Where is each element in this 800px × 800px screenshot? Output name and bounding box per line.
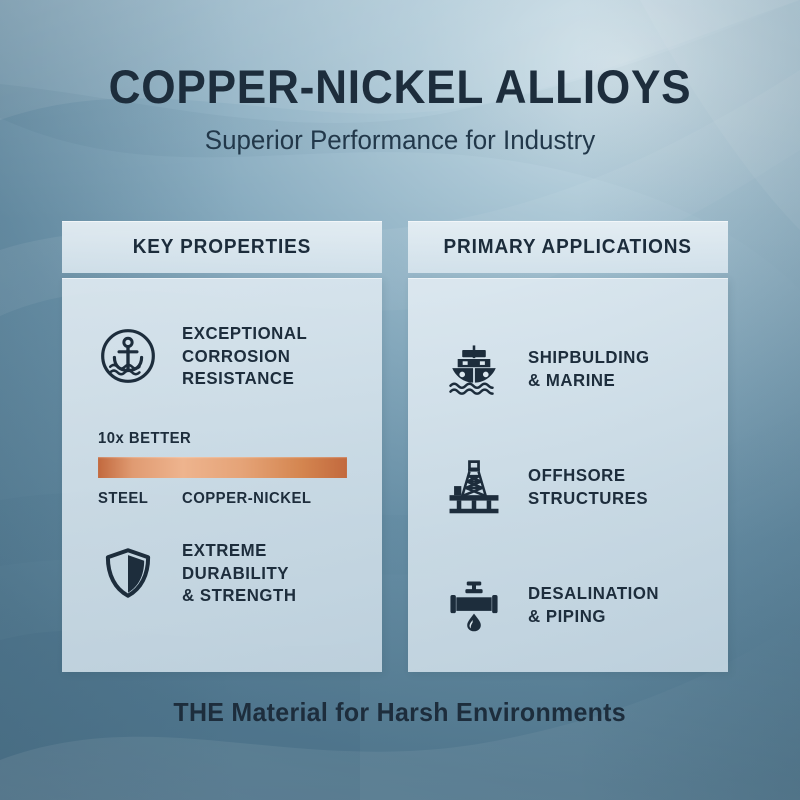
application-shipbuilding-marine-label: SHIPBULDING & MARINE	[528, 346, 650, 392]
primary-applications-header: PRIMARY APPLICATIONS	[408, 221, 728, 273]
primary-applications-column: PRIMARY APPLICATIONS	[408, 221, 728, 672]
feature-durability-strength: EXTREME DURABILITY & STRENGTH	[62, 538, 382, 608]
application-desalination-piping: DESALINATION & PIPING	[408, 546, 728, 664]
footer-block: THE Material for Harsh Environments	[0, 697, 800, 728]
stat-top-label: 10x BETTER	[98, 430, 336, 448]
key-properties-header: KEY PROPERTIES	[62, 221, 382, 273]
columns-container: KEY PROPERTIES	[62, 221, 728, 672]
pipe-valve-droplet-icon	[442, 573, 506, 637]
key-properties-column: KEY PROPERTIES	[62, 221, 382, 672]
primary-applications-header-label: PRIMARY APPLICATIONS	[444, 236, 692, 259]
application-offshore-structures: OFFHSORE STRUCTURES	[408, 428, 728, 546]
shield-icon	[96, 541, 160, 605]
anchor-waves-circle-icon	[96, 324, 160, 388]
ship-icon	[442, 337, 506, 401]
primary-applications-body: SHIPBULDING & MARINE	[408, 278, 728, 672]
page-title: COPPER-NICKEL ALLIOYS	[24, 62, 776, 113]
application-offshore-structures-label: OFFHSORE STRUCTURES	[528, 464, 648, 510]
footer-tagline: THE Material for Harsh Environments	[174, 697, 627, 728]
feature-corrosion-resistance: EXCEPTIONAL CORROSION RESISTANCE	[62, 306, 382, 406]
page-subtitle: Superior Performance for Industry	[16, 126, 784, 156]
header-block: COPPER-NICKEL ALLIOYS Superior Performan…	[0, 62, 800, 155]
key-properties-body: EXCEPTIONAL CORROSION RESISTANCE 10x BET…	[62, 278, 382, 672]
stat-comparison-block: 10x BETTER STEEL COPPER-NICKEL	[62, 430, 382, 508]
application-shipbuilding-marine: SHIPBULDING & MARINE	[408, 310, 728, 428]
key-properties-header-label: KEY PROPERTIES	[133, 236, 311, 259]
feature-durability-strength-label: EXTREME DURABILITY & STRENGTH	[182, 539, 374, 607]
infographic-canvas: COPPER-NICKEL ALLIOYS Superior Performan…	[0, 0, 800, 800]
stat-legend-copper-nickel: COPPER-NICKEL	[182, 490, 311, 508]
stat-legend: STEEL COPPER-NICKEL	[98, 490, 346, 508]
application-desalination-piping-label: DESALINATION & PIPING	[528, 582, 659, 628]
copper-comparison-bar	[98, 457, 347, 478]
stat-legend-steel: STEEL	[98, 490, 179, 508]
feature-corrosion-resistance-label: EXCEPTIONAL CORROSION RESISTANCE	[182, 322, 307, 390]
oil-rig-icon	[442, 455, 506, 519]
